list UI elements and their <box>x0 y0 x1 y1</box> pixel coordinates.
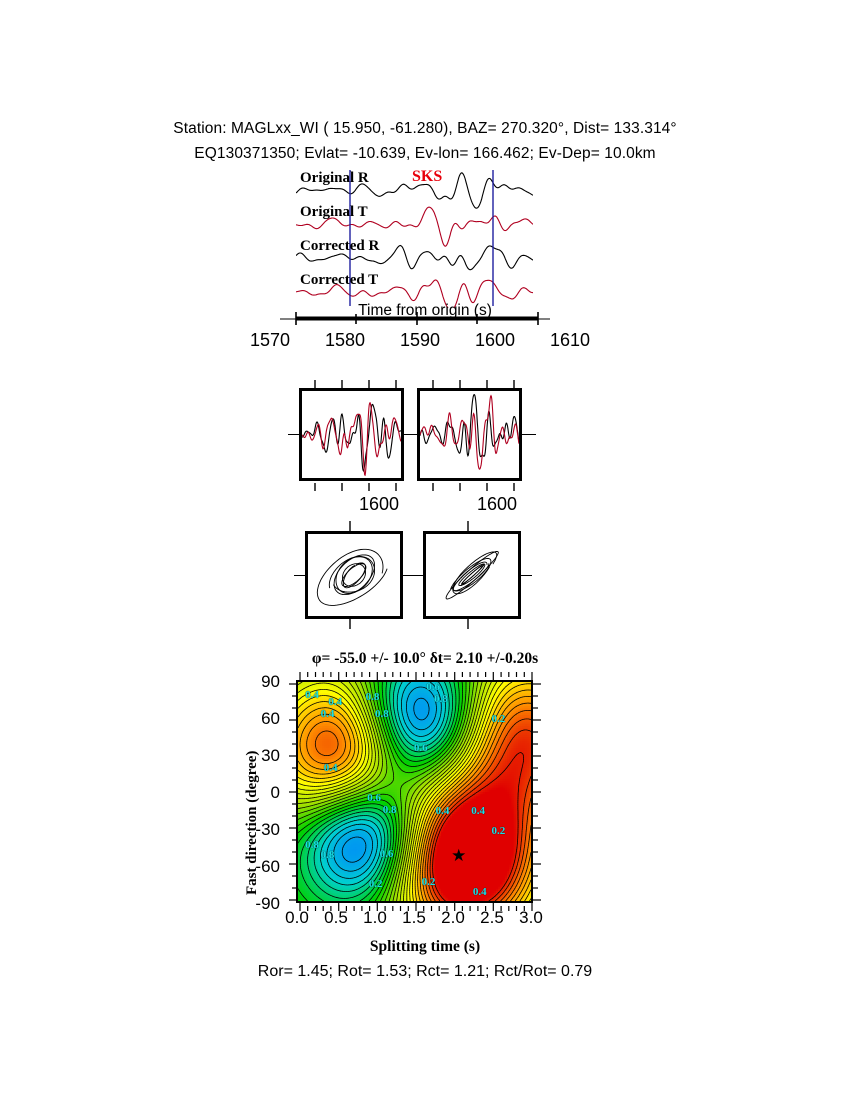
particle-motion-after <box>423 531 521 619</box>
contour-level-label: 0.2 <box>369 878 383 890</box>
contour-left-ticks <box>288 680 297 904</box>
contour-level-label: 0.6 <box>414 742 428 754</box>
contour-level-label: 0.2 <box>422 876 436 888</box>
time-tick: 1590 <box>400 330 440 351</box>
contour-x-axis-title: Splitting time (s) <box>0 938 850 956</box>
seismogram-trace <box>420 396 519 469</box>
y-tick-label: 0 <box>240 783 280 803</box>
seismogram-trace <box>302 404 401 471</box>
time-tick: 1610 <box>550 330 590 351</box>
header-line-station: Station: MAGLxx_WI ( 15.950, -61.280), B… <box>0 120 850 138</box>
best-solution-star: ★ <box>451 847 466 864</box>
contour-level-label: 0.8 <box>305 839 319 851</box>
contour-level-label: 0.4 <box>324 762 338 774</box>
y-tick-label: 60 <box>240 709 280 729</box>
sks-phase-label: SKS <box>412 168 442 186</box>
trace-label-corrected-t: Corrected T <box>300 272 378 289</box>
y-tick-label: 30 <box>240 746 280 766</box>
y-tick-label: -60 <box>240 857 280 877</box>
particle-motion-path <box>334 555 375 595</box>
contour-level-label: 0.8 <box>366 691 380 703</box>
seismo-bottom-ticks <box>299 481 523 491</box>
x-tick-label: 3.0 <box>508 908 554 928</box>
contour-right-ticks <box>533 680 542 904</box>
time-tick: 1570 <box>250 330 290 351</box>
contour-level-label: 0.4 <box>305 689 319 701</box>
contour-top-ticks <box>296 672 536 681</box>
contour-level-label: 0.8 <box>321 849 335 861</box>
particle-motion-path <box>453 552 497 594</box>
particle-motion-path <box>446 551 498 599</box>
particle-motion-path <box>462 566 482 584</box>
trace-label-original-r: Original R <box>300 170 369 187</box>
y-tick-label: -30 <box>240 820 280 840</box>
footer-stats: Ror= 1.45; Rot= 1.53; Rct= 1.21; Rct/Rot… <box>0 963 850 981</box>
seismogram-box-after <box>417 388 522 481</box>
contour-level-label: 0.2 <box>491 713 505 725</box>
time-axis-ticks: 1570 1580 1590 1600 1610 <box>250 330 590 351</box>
contour-level-label: 0.4 <box>436 805 450 817</box>
trace-label-corrected-r: Corrected R <box>300 238 379 255</box>
splitting-result-text: φ= -55.0 +/- 10.0° δt= 2.10 +/-0.20s <box>0 650 850 668</box>
contour-level-label: 0.8 <box>383 804 397 816</box>
contour-level-label: 0.6 <box>426 681 440 693</box>
contour-plot: ★ 0.40.40.40.60.80.80.80.40.20.60.60.80.… <box>296 680 533 903</box>
particle-motion-before <box>305 531 403 619</box>
y-tick-label: 90 <box>240 672 280 692</box>
time-axis-title: Time from origin (s) <box>0 302 850 320</box>
seismo-tick-label-right: 1600 <box>452 494 542 515</box>
header-line-event: EQ130371350; Evlat= -10.639, Ev-lon= 166… <box>0 145 850 163</box>
trace-label-original-t: Original T <box>300 204 368 221</box>
particle-motion-path <box>342 564 366 587</box>
contour-level-label: 0.8 <box>375 708 389 720</box>
seismogram-box-before <box>299 388 404 481</box>
contour-level-label: 0.4 <box>328 696 342 708</box>
time-tick: 1600 <box>475 330 515 351</box>
contour-level-label: 0.2 <box>491 825 505 837</box>
contour-level-label: 0.4 <box>471 805 485 817</box>
contour-level-label: 0.4 <box>321 708 335 720</box>
time-tick: 1580 <box>325 330 365 351</box>
contour-level-label: 0.8 <box>434 693 448 705</box>
contour-level-label: 0.6 <box>380 848 394 860</box>
seismo-tick-label-left: 1600 <box>334 494 424 515</box>
contour-level-label: 0.4 <box>473 886 487 898</box>
particle-motion-path <box>336 557 372 594</box>
seismo-top-ticks <box>299 380 523 390</box>
contour-level-label: 0.6 <box>367 792 381 804</box>
